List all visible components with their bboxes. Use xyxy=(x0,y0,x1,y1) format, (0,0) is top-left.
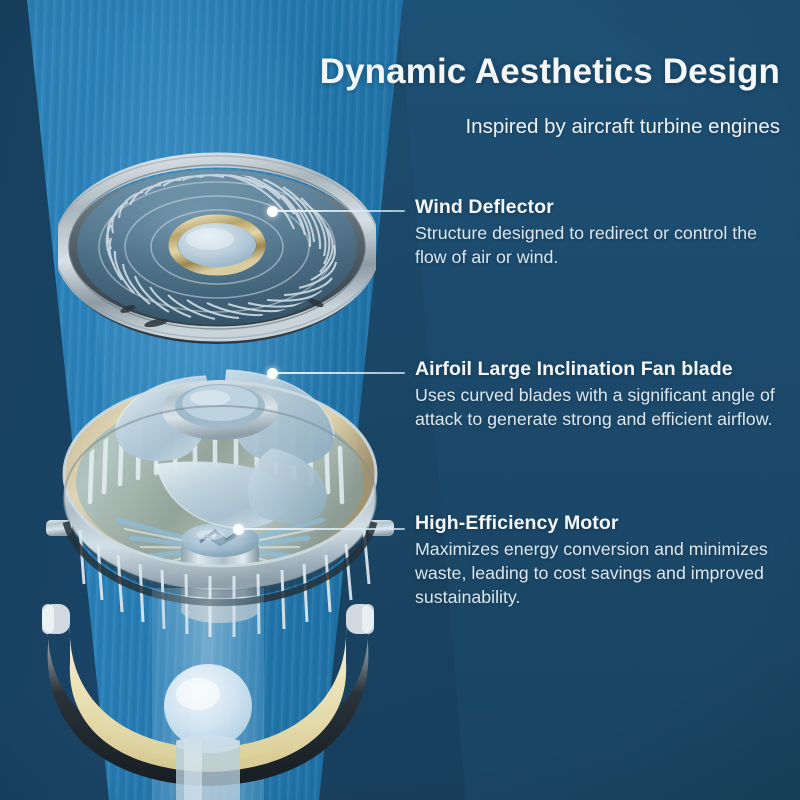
callout-heading: High-Efficiency Motor xyxy=(415,512,785,535)
leader-line-wind-deflector xyxy=(277,210,405,212)
callout-body: Structure designed to redirect or contro… xyxy=(415,222,785,270)
page-title: Dynamic Aesthetics Design xyxy=(258,52,780,92)
callout-wind-deflector: Wind Deflector Structure designed to red… xyxy=(415,196,785,270)
wind-deflector-grille xyxy=(58,143,376,351)
callout-body: Uses curved blades with a significant an… xyxy=(415,384,785,432)
leader-line-fan-blade xyxy=(277,372,405,374)
callout-motor: High-Efficiency Motor Maximizes energy c… xyxy=(415,512,785,610)
callout-heading: Airfoil Large Inclination Fan blade xyxy=(415,358,785,381)
leader-line-motor xyxy=(243,528,405,530)
infographic-canvas: Dynamic Aesthetics Design Inspired by ai… xyxy=(0,0,800,800)
callout-heading: Wind Deflector xyxy=(415,196,785,219)
callout-body: Maximizes energy conversion and minimize… xyxy=(415,538,785,610)
page-subtitle: Inspired by aircraft turbine engines xyxy=(300,115,780,139)
callout-fan-blade: Airfoil Large Inclination Fan blade Uses… xyxy=(415,358,785,432)
base-cradle-yoke xyxy=(18,588,398,800)
